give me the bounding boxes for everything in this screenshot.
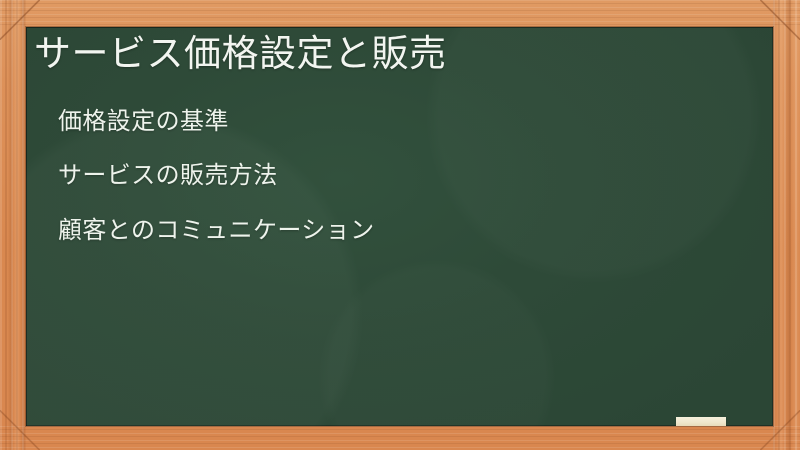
list-item: 顧客とのコミュニケーション: [58, 218, 748, 244]
chalk-eraser-icon: [676, 417, 726, 426]
chalkboard-surface: サービス価格設定と販売 価格設定の基準 サービスの販売方法 顧客とのコミュニケー…: [26, 27, 773, 426]
list-item: サービスの販売方法: [58, 163, 748, 189]
slide-title: サービス価格設定と販売: [34, 32, 734, 76]
bullet-list: 価格設定の基準 サービスの販売方法 顧客とのコミュニケーション: [58, 109, 748, 244]
list-item: 価格設定の基準: [58, 109, 748, 135]
chalkboard-slide: サービス価格設定と販売 価格設定の基準 サービスの販売方法 顧客とのコミュニケー…: [0, 0, 800, 450]
